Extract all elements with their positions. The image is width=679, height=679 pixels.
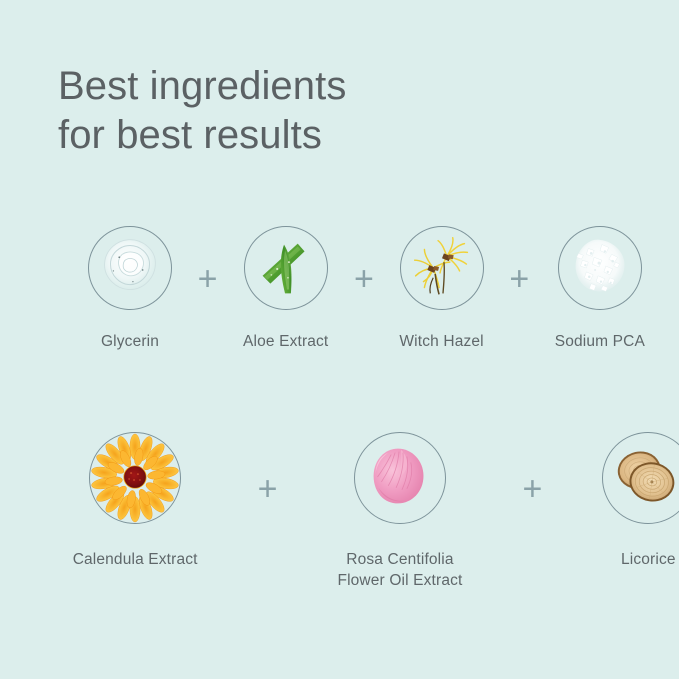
ingredient-glycerin[interactable]: Glycerin	[88, 226, 172, 353]
plus-operator: +	[522, 472, 542, 506]
ingredients-infographic: Best ingredients for best results	[0, 0, 679, 679]
ingredient-rosa-centifolia[interactable]: Rosa Centifolia Flower Oil Extract	[337, 432, 462, 592]
sodium-pca-powder-icon	[558, 226, 642, 310]
ingredient-label: Rosa Centifolia Flower Oil Extract	[337, 550, 462, 592]
witch-hazel-flower-icon	[400, 226, 484, 310]
ingredient-calendula[interactable]: Calendula Extract	[73, 432, 198, 571]
ingredient-row-one: Glycerin +	[0, 226, 679, 353]
ingredient-sodium-pca[interactable]: Sodium PCA	[555, 226, 645, 353]
glycerin-gel-icon	[88, 226, 172, 310]
plus-operator: +	[509, 262, 529, 296]
calendula-flower-icon	[89, 432, 181, 524]
ingredient-row-two: Calendula Extract +	[0, 432, 679, 592]
ingredient-label: Calendula Extract	[73, 550, 198, 571]
plus-operator: +	[198, 262, 218, 296]
licorice-root-icon	[602, 432, 679, 524]
ingredient-label: Glycerin	[101, 332, 159, 353]
ingredient-label: Aloe Extract	[243, 332, 328, 353]
page-title: Best ingredients for best results	[58, 62, 578, 160]
rose-petal-icon	[354, 432, 446, 524]
ingredient-label: Sodium PCA	[555, 332, 645, 353]
ingredient-label: Witch Hazel	[399, 332, 483, 353]
plus-operator: +	[258, 472, 278, 506]
plus-operator: +	[354, 262, 374, 296]
ingredient-licorice[interactable]: Licorice	[602, 432, 679, 571]
ingredient-label: Licorice	[621, 550, 676, 571]
aloe-leaf-icon	[244, 226, 328, 310]
ingredient-aloe[interactable]: Aloe Extract	[243, 226, 328, 353]
ingredient-witch-hazel[interactable]: Witch Hazel	[399, 226, 483, 353]
